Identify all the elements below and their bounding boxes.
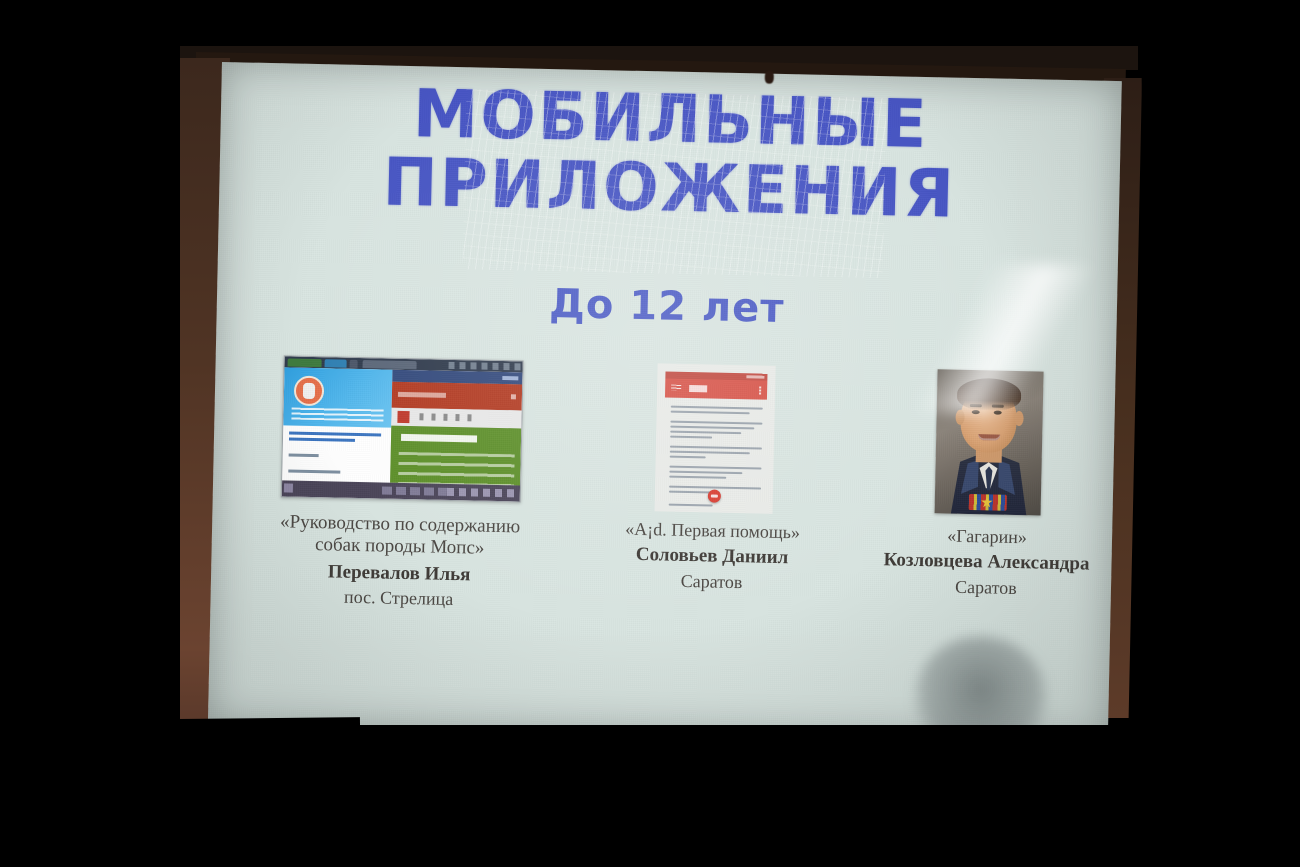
- project-caption: «Гагарин» Козловцева Александра Саратов: [851, 524, 1122, 602]
- content-heading: [401, 434, 477, 443]
- project-author: Козловцева Александра: [851, 549, 1121, 577]
- eyebrow: [992, 404, 1004, 407]
- desktop-screenshot-image: [281, 355, 524, 502]
- list-item: [288, 470, 340, 474]
- project-title-line-1: «A¡d. Первая помощь»: [580, 518, 845, 545]
- project-city: пос. Стрелица: [218, 584, 578, 613]
- overflow-menu-icon: [759, 387, 761, 395]
- hair: [957, 378, 1022, 411]
- app-header-panel: [283, 367, 392, 427]
- browser-tab: [350, 360, 358, 368]
- projects-row: «Руководство по содержанию собак породы …: [209, 354, 1115, 673]
- slide-title: МОБИЛЬНЫЕ ПРИЛОЖЕНИЯ: [219, 80, 1122, 229]
- emulator-viewport: [390, 370, 522, 486]
- list-item: [289, 454, 319, 458]
- tab-indicator: [397, 411, 409, 423]
- project-card: «Гагарин» Козловцева Александра Саратов: [851, 368, 1122, 602]
- app-bar: [664, 372, 767, 400]
- gagarin-portrait-image: [935, 369, 1044, 515]
- eye: [994, 411, 1002, 415]
- content-paragraph: [670, 406, 762, 418]
- tab-label: [431, 414, 435, 421]
- mouth: [978, 434, 1000, 440]
- project-thumbnail: [852, 368, 1121, 522]
- project-city: Саратов: [579, 568, 844, 595]
- browser-tab: [363, 360, 417, 369]
- project-caption: «A¡d. Первая помощь» Соловьев Даниил Сар…: [579, 518, 845, 596]
- panel-text-lines: [291, 408, 383, 422]
- project-author: Перевалов Илья: [219, 559, 579, 589]
- presentation-slide: МОБИЛЬНЫЕ ПРИЛОЖЕНИЯ До 12 лет: [208, 62, 1122, 743]
- project-city: Саратов: [851, 574, 1121, 601]
- room-darkness-foreground: [0, 725, 1300, 867]
- project-author: Соловьев Даниил: [579, 543, 844, 571]
- tab-label: [419, 413, 423, 420]
- content-paragraph: [668, 504, 760, 511]
- status-bar: [665, 372, 767, 381]
- list-item: [289, 438, 355, 442]
- tab-label: [455, 414, 459, 421]
- system-tray-icons: [447, 488, 517, 497]
- ear: [1014, 411, 1023, 426]
- app-bar-title: [689, 385, 707, 392]
- floating-action-button[interactable]: [707, 489, 720, 502]
- browser-tab: [325, 359, 347, 367]
- tab-label: [443, 414, 447, 421]
- project-title-line-1: «Гагарин»: [852, 524, 1122, 551]
- eye: [972, 410, 980, 414]
- content-panel: [390, 426, 521, 486]
- window-controls-icon: [449, 362, 521, 371]
- title-line-2: ПРИЛОЖЕНИЯ: [208, 148, 1122, 230]
- project-card: «A¡d. Первая помощь» Соловьев Даниил Сар…: [579, 362, 849, 595]
- room-darkness-top: [0, 0, 1300, 46]
- hamburger-menu-icon: [671, 385, 681, 391]
- screen-edge-mark: [765, 71, 774, 84]
- project-thumbnail: [221, 354, 584, 510]
- content-paragraph: [670, 421, 762, 443]
- projection-photo-stage: МОБИЛЬНЫЕ ПРИЛОЖЕНИЯ До 12 лет: [0, 0, 1300, 867]
- project-caption: «Руководство по содержанию собак породы …: [218, 510, 580, 613]
- app-bar: [392, 382, 523, 411]
- content-paragraph: [669, 446, 761, 463]
- tab-label: [467, 414, 471, 421]
- project-card: «Руководство по содержанию собак породы …: [218, 354, 583, 613]
- start-button-icon: [284, 483, 293, 492]
- project-thumbnail: [581, 362, 849, 516]
- content-paragraph: [669, 466, 761, 483]
- window-body: [282, 367, 522, 485]
- browser-tab: [288, 358, 322, 367]
- list-item: [289, 432, 381, 437]
- avatar: [294, 376, 325, 407]
- eyebrow: [970, 404, 982, 407]
- slide-subtitle: До 12 лет: [217, 274, 1118, 339]
- projection-screen: МОБИЛЬНЫЕ ПРИЛОЖЕНИЯ До 12 лет: [208, 62, 1122, 743]
- phone-screenshot-image: [654, 363, 775, 513]
